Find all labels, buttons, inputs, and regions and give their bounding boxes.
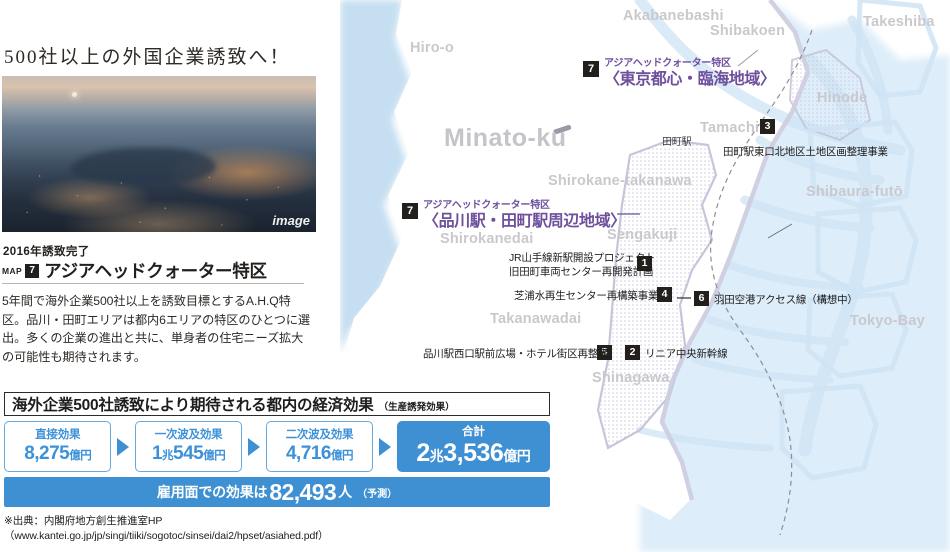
economic-flow: 直接効果 8,275億円 一次波及効果 1兆545億円 二次波及効果 4,716… <box>4 421 550 472</box>
hero-photo: image <box>2 76 316 232</box>
map-area-shinagawa: Shinagawa <box>592 370 670 386</box>
map-label-4: 芝浦水再生センター再構築事業 <box>514 288 658 303</box>
econ-box-total-value: 2兆3,536億円 <box>416 441 530 466</box>
map-badge-3[interactable]: 3 <box>760 119 775 134</box>
map-area-shibaura-futo: Shibaura-futō <box>806 184 903 200</box>
econ-box-direct-value: 8,275億円 <box>24 444 91 463</box>
econ-box-direct: 直接効果 8,275億円 <box>4 421 111 472</box>
employment-note: （予測） <box>357 485 397 500</box>
map-label-1a: JR山手線新駅開設プロジェクト <box>509 250 655 265</box>
econ-box-primary-ripple: 一次波及効果 1兆545億円 <box>135 421 242 472</box>
ahq-badge-7-tokyo: 7 <box>583 61 599 77</box>
econ-arrow-2 <box>242 421 265 472</box>
map-station-tamachi-label: 田町駅 <box>662 133 691 148</box>
employment-effect-bar: 雇用面での効果は 82,493 人 （予測） <box>4 477 550 507</box>
econ-box-total: 合計 2兆3,536億円 <box>397 421 550 472</box>
ahq-line2-shinagawa: 〈品川駅・田町駅周辺地域〉 <box>423 207 626 231</box>
photo-moon <box>72 92 77 97</box>
employment-prefix: 雇用面での効果は <box>157 482 267 502</box>
map-label-1b: 旧田町車両センター再開発計画 <box>509 264 653 279</box>
map-area-hiro-o: Hiro-o <box>410 40 454 56</box>
page-root: Akabanebashi Shibakoen Takeshiba Hiro-o … <box>0 0 950 552</box>
econ-box-direct-label: 直接効果 <box>35 430 80 442</box>
map-area-tokyo-bay: Tokyo-Bay <box>850 313 925 329</box>
econ-box-secondary-value: 4,716億円 <box>286 444 353 463</box>
map-area-shirokane-takanawa: Shirokane-takanawa <box>548 173 692 189</box>
photo-watermark: image <box>272 213 310 228</box>
econ-box-secondary-label: 二次波及効果 <box>286 430 354 442</box>
source-line-2: （www.kantei.go.jp/jp/singi/tiiki/sogotoc… <box>4 529 550 544</box>
econ-arrow-1 <box>111 421 134 472</box>
caption-title-row: MAP 7 アジアヘッドクォーター特区 <box>2 258 267 283</box>
economic-header-subtitle: （生産誘発効果） <box>379 399 455 413</box>
econ-box-primary-label: 一次波及効果 <box>155 430 223 442</box>
photo-city-lights <box>2 162 316 232</box>
map-badge-4[interactable]: 4 <box>657 287 672 302</box>
map-area-tamachi: Tamachi <box>700 120 759 136</box>
source-note: ※出典：内閣府地方創生推進室HP （www.kantei.go.jp/jp/si… <box>4 514 550 544</box>
caption-map-badge: 7 <box>25 264 39 278</box>
page-headline: 500社以上の外国企業誘致へ！ <box>4 42 291 69</box>
map-area-minato-ku: Minato-ku <box>444 124 567 153</box>
map-label-5: 品川駅西口駅前広場・ホテル街区再整備 <box>423 346 608 361</box>
caption-map-word: MAP <box>2 266 22 276</box>
econ-arrow-3 <box>373 421 396 472</box>
employment-unit: 人 <box>338 482 352 502</box>
econ-box-total-label: 合計 <box>462 427 485 439</box>
map-area-shirokanedai: Shirokanedai <box>440 231 533 247</box>
caption-body: 5年間で海外企業500社以上を誘致目標とするA.H.Q特区。品川・田町エリアは都… <box>2 292 314 366</box>
map-area-hinode: Hinode <box>817 90 867 106</box>
employment-number: 82,493 <box>269 479 336 506</box>
ahq-badge-7-shinagawa: 7 <box>402 203 418 219</box>
map-area-akabanebashi: Akabanebashi <box>623 8 724 24</box>
map-label-2: リニア中央新幹線 <box>645 346 727 361</box>
ahq-line2-tokyo: 〈東京都心・臨海地域〉 <box>604 65 776 89</box>
map-label-6: 羽田空港アクセス線（構想中） <box>714 292 858 307</box>
economic-effect-panel: 海外企業500社誘致により期待される都内の経済効果 （生産誘発効果） 直接効果 … <box>4 392 550 544</box>
econ-box-secondary-ripple: 二次波及効果 4,716億円 <box>266 421 373 472</box>
source-line-1: ※出典：内閣府地方創生推進室HP <box>4 514 550 529</box>
map-label-3: 田町駅東口北地区土地区画整理事業 <box>723 144 888 159</box>
caption-title: アジアヘッドクォーター特区 <box>44 258 267 283</box>
caption-year: 2016年誘致完了 <box>3 243 90 259</box>
econ-box-primary-value: 1兆545億円 <box>152 444 225 463</box>
economic-header: 海外企業500社誘致により期待される都内の経済効果 （生産誘発効果） <box>4 392 550 416</box>
caption-divider <box>2 283 304 284</box>
map-badge-6[interactable]: 6 <box>694 291 709 306</box>
map-area-takanawadai: Takanawadai <box>490 311 581 327</box>
map-badge-2[interactable]: 2 <box>625 345 640 360</box>
map-area-takeshiba: Takeshiba <box>863 14 935 30</box>
economic-header-title: 海外企業500社誘致により期待される都内の経済効果 <box>12 393 374 415</box>
map-area-shibakoen: Shibakoen <box>710 23 785 39</box>
